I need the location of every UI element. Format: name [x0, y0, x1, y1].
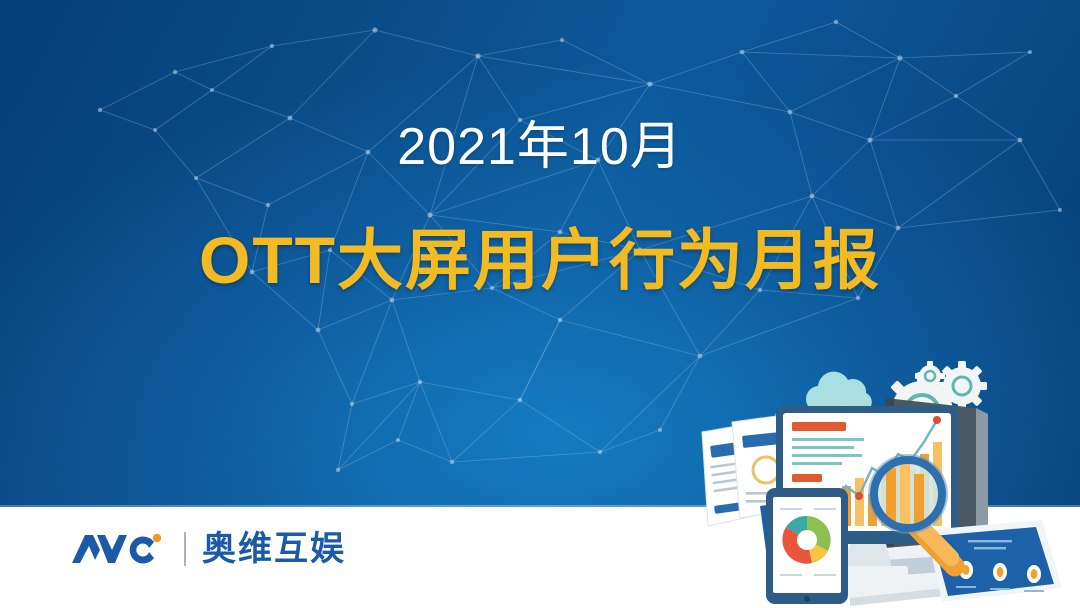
donut-chart [782, 516, 831, 564]
date-label: 2021年10月 [0, 118, 1080, 176]
page-title: OTT大屏用户行为月报 [0, 224, 1080, 297]
title-block: 2021年10月 OTT大屏用户行为月报 [0, 118, 1080, 297]
tablet-device [766, 488, 848, 604]
slide-root: 2021年10月 OTT大屏用户行为月报 奥维互娱 [0, 0, 1080, 608]
avc-logo-icon [70, 529, 168, 569]
logo-company-name: 奥维互娱 [202, 532, 346, 566]
cloud-icon [806, 372, 872, 412]
screen-header-bar [792, 422, 846, 431]
screen-button [792, 474, 822, 482]
logo-divider [184, 532, 186, 566]
data-analytics-illustration [690, 358, 1080, 608]
avc-orange-dot [153, 534, 161, 542]
tablet-home-button [804, 596, 810, 602]
brand-logo[interactable]: 奥维互娱 [70, 529, 346, 569]
